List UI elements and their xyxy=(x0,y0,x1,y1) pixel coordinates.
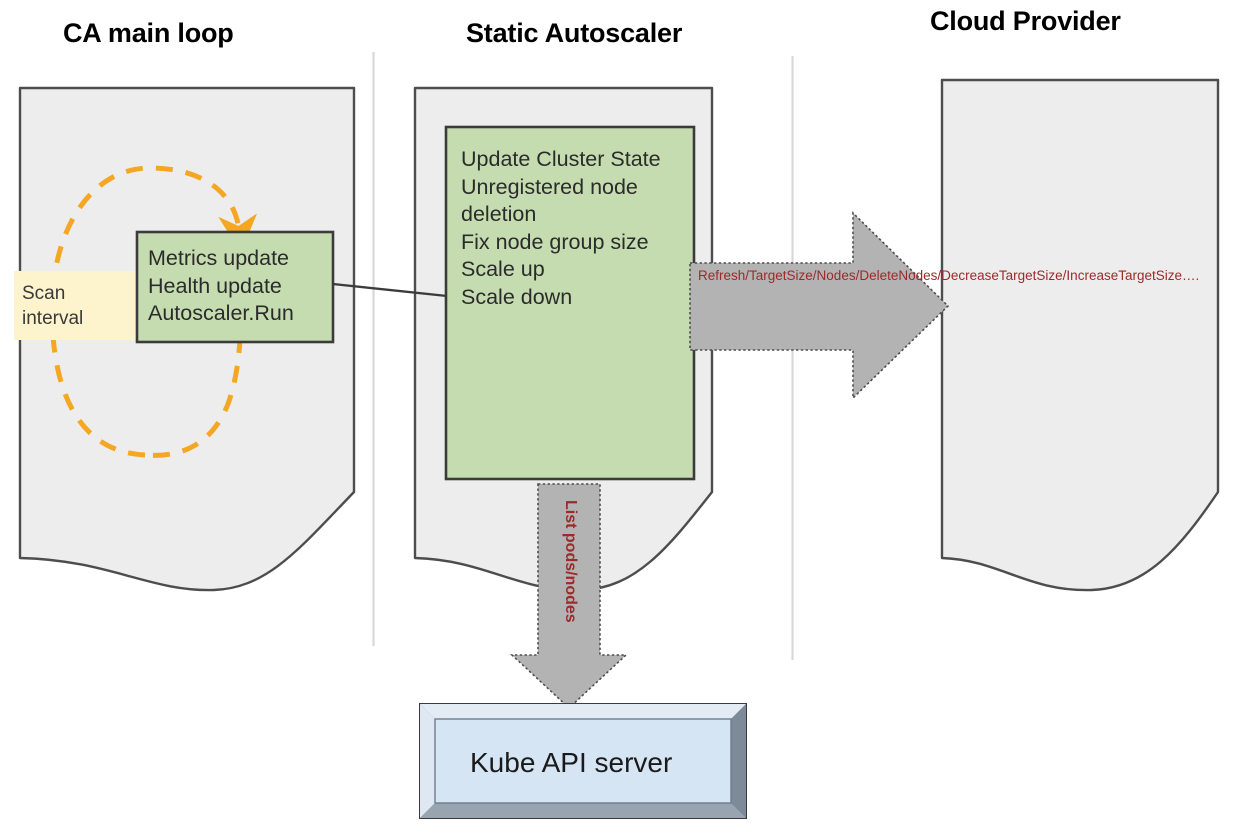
diagram-canvas: CA main loop Static Autoscaler Cloud Pro… xyxy=(0,0,1240,838)
api-server-arrow-label: List pods/nodes xyxy=(562,500,579,623)
cloud-provider-arrow-label: Refresh/TargetSize/Nodes/DeleteNodes/Dec… xyxy=(698,268,894,285)
kube-api-server-label: Kube API server xyxy=(470,747,672,779)
diagram-vector-layer xyxy=(0,0,1240,838)
lane-shape-cloud-provider xyxy=(942,80,1218,590)
scan-interval-note-label: Scan interval xyxy=(22,281,142,331)
lane-title-ca-main-loop: CA main loop xyxy=(63,18,234,49)
metrics-update-box-label: Metrics update Health update Autoscaler.… xyxy=(148,245,338,328)
autoscaler-steps-box-label: Update Cluster State Unregistered node d… xyxy=(461,146,701,311)
lane-title-cloud-provider: Cloud Provider xyxy=(930,6,1121,37)
lane-title-static-autoscaler: Static Autoscaler xyxy=(466,18,682,49)
cloud-provider-arrow xyxy=(690,213,948,398)
